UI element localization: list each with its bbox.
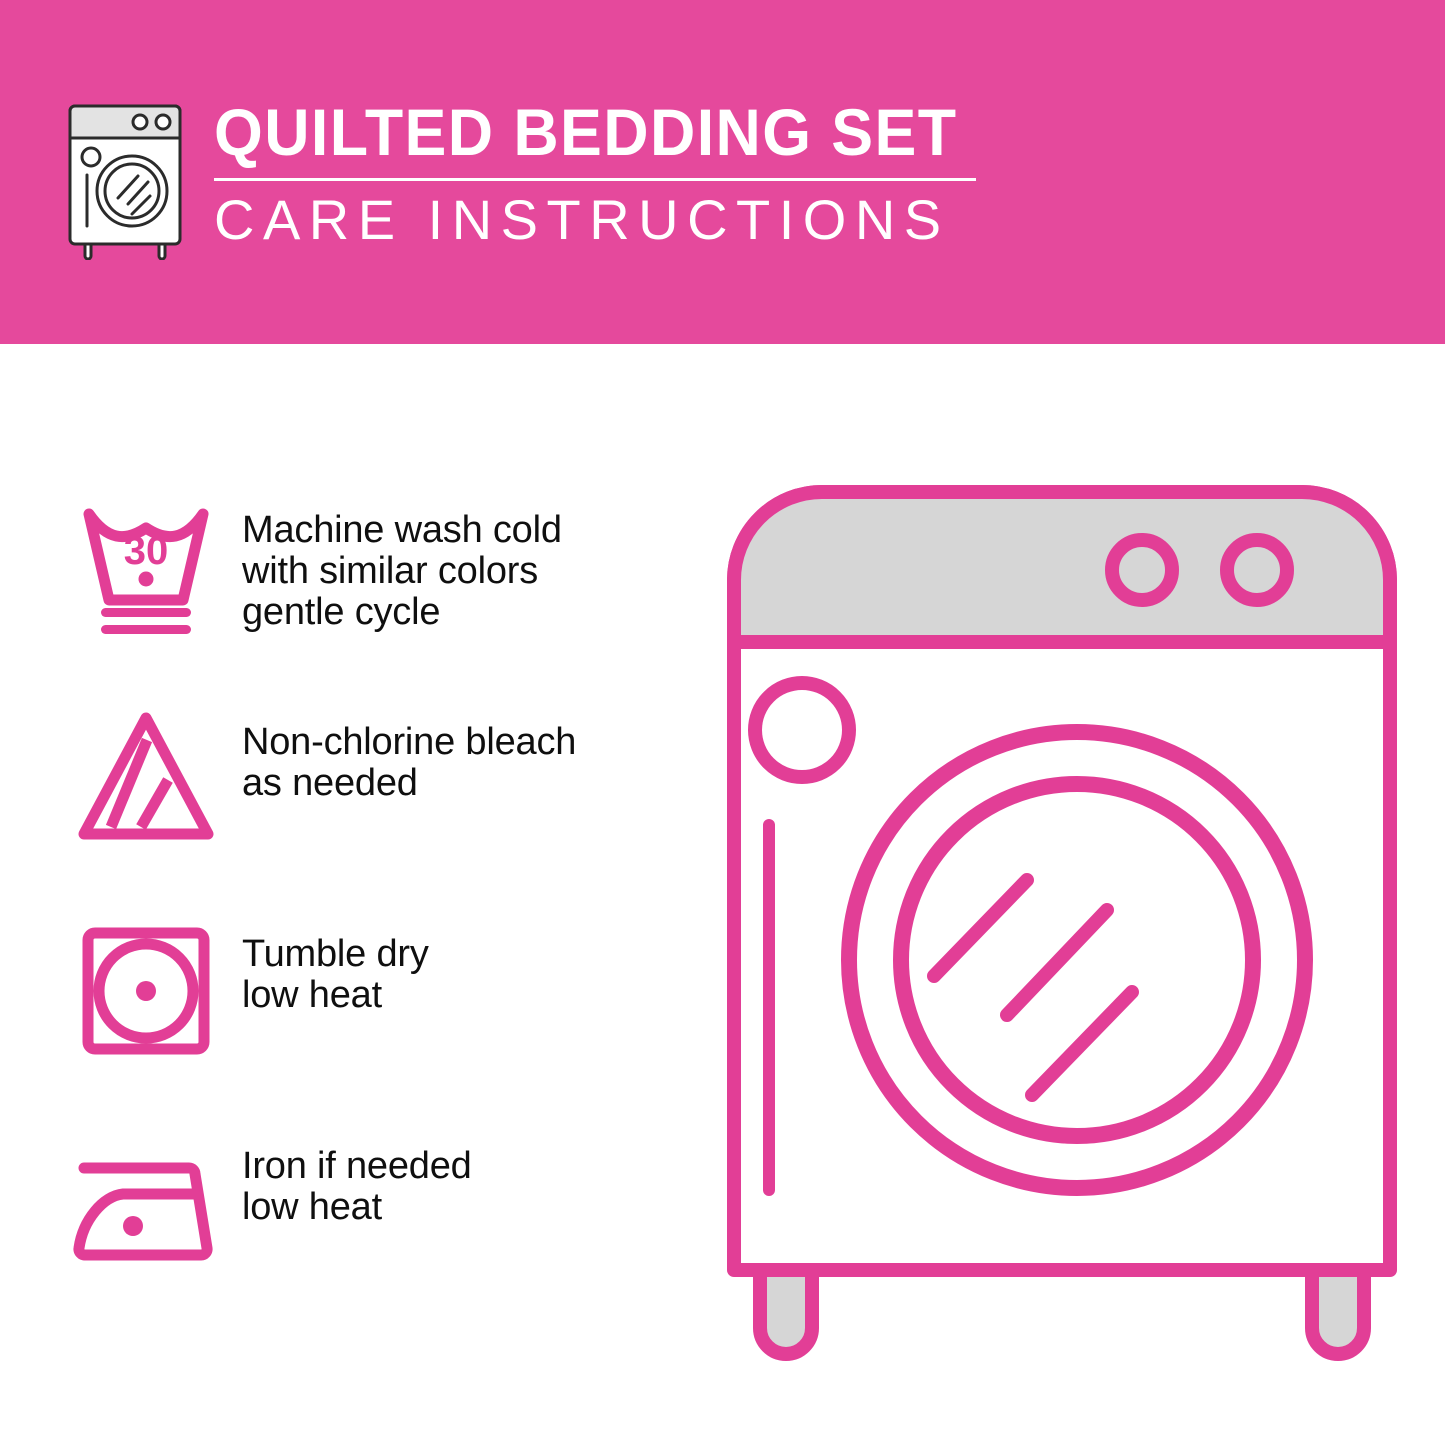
large-washing-machine-illustration <box>712 470 1412 1380</box>
care-label-line: low heat <box>242 975 700 1016</box>
care-row-bleach: Non-chlorine bleach as needed <box>60 696 700 908</box>
header-band: QUILTED BEDDING SET CARE INSTRUCTIONS <box>0 0 1445 344</box>
care-label-machine-wash: Machine wash cold with similar colors ge… <box>232 484 700 633</box>
wash-temperature-value: 30 <box>124 529 169 573</box>
care-label-line: Non-chlorine bleach <box>242 722 700 763</box>
care-label-tumble-dry: Tumble dry low heat <box>232 908 700 1016</box>
care-instructions-infographic: QUILTED BEDDING SET CARE INSTRUCTIONS 30… <box>0 0 1445 1445</box>
page-title: QUILTED BEDDING SET <box>214 96 958 168</box>
care-row-tumble-dry: Tumble dry low heat <box>60 908 700 1120</box>
leg-left <box>760 1270 812 1354</box>
care-label-iron: Iron if needed low heat <box>232 1120 700 1228</box>
header-text-block: QUILTED BEDDING SET CARE INSTRUCTIONS <box>214 96 997 251</box>
care-label-line: with similar colors <box>242 551 700 592</box>
care-label-line: gentle cycle <box>242 592 700 633</box>
detergent-dispenser-icon <box>755 683 849 777</box>
leg-right <box>1312 1270 1364 1354</box>
non-chlorine-bleach-triangle-icon <box>60 696 232 854</box>
knob-left-icon <box>1112 540 1172 600</box>
care-label-line: Tumble dry <box>242 934 700 975</box>
care-label-line: Machine wash cold <box>242 510 700 551</box>
iron-low-heat-icon <box>60 1120 232 1278</box>
header-divider <box>214 178 976 181</box>
header-content: QUILTED BEDDING SET CARE INSTRUCTIONS <box>62 96 997 260</box>
washing-machine-icon <box>62 100 192 260</box>
tumble-dry-low-heat-icon <box>60 908 232 1066</box>
knob-right-icon <box>1227 540 1287 600</box>
wash-tub-30-gentle-icon: 30 <box>60 484 232 642</box>
care-instructions-list: 30 Machine wash cold with similar colors… <box>60 484 700 1332</box>
page-subtitle: CARE INSTRUCTIONS <box>214 189 997 251</box>
care-label-line: low heat <box>242 1187 700 1228</box>
care-label-bleach: Non-chlorine bleach as needed <box>232 696 700 804</box>
care-row-machine-wash: 30 Machine wash cold with similar colors… <box>60 484 700 696</box>
care-label-line: Iron if needed <box>242 1146 700 1187</box>
care-row-iron: Iron if needed low heat <box>60 1120 700 1332</box>
care-label-line: as needed <box>242 763 700 804</box>
